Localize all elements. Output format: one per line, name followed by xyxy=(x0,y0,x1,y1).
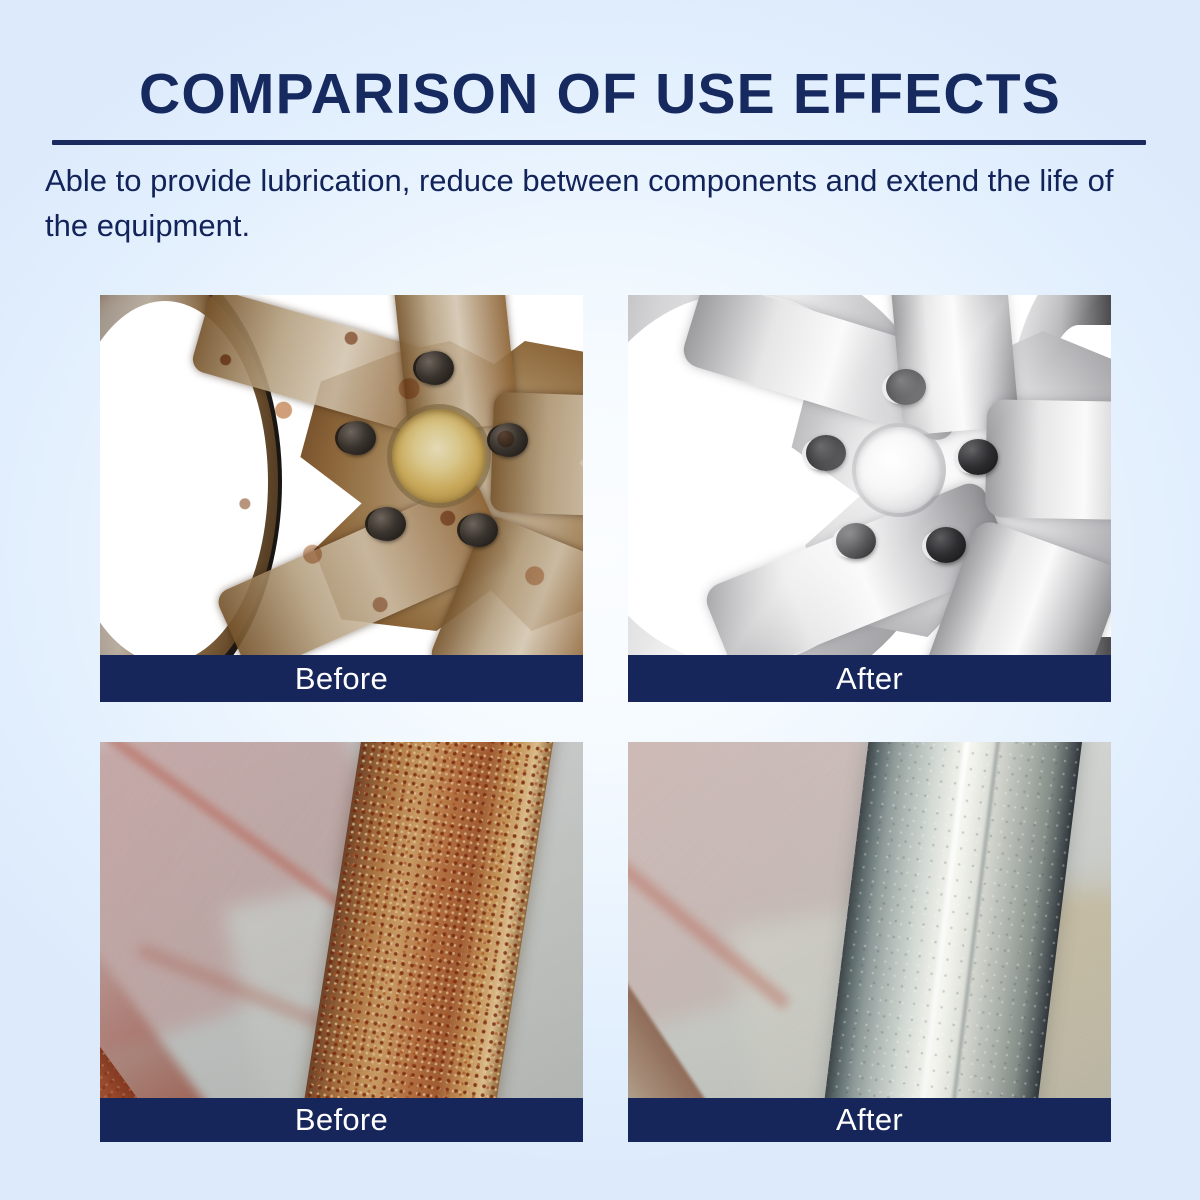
lug-nut xyxy=(460,513,498,547)
caption-pipe-after: After xyxy=(628,1098,1111,1142)
rusty-pipe-photo xyxy=(100,742,583,1098)
caption-wheel-after: After xyxy=(628,655,1111,702)
header: COMPARISON OF USE EFFECTS xyxy=(0,0,1200,126)
comparison-wheel-after-image xyxy=(628,295,1111,655)
lug-nut xyxy=(416,351,454,385)
lug-nut xyxy=(806,435,846,471)
clean-wheel-photo xyxy=(628,295,1111,655)
lug-nut xyxy=(338,421,376,455)
lug-nut xyxy=(490,423,528,457)
lug-nut xyxy=(368,507,406,541)
comparison-infographic: COMPARISON OF USE EFFECTS Able to provid… xyxy=(0,0,1200,1200)
rusty-wheel-photo xyxy=(100,295,583,655)
clean-pipe-photo xyxy=(628,742,1111,1098)
spoke-shape xyxy=(985,399,1111,520)
lug-nut xyxy=(836,523,876,559)
title-divider xyxy=(52,140,1146,145)
comparison-pipe-before-image xyxy=(100,742,583,1098)
lug-nut xyxy=(958,439,998,475)
wheel-center-cap xyxy=(392,409,486,503)
comparison-pipe-after-image xyxy=(628,742,1111,1098)
caption-wheel-before: Before xyxy=(100,655,583,702)
page-subtitle: Able to provide lubrication, reduce betw… xyxy=(45,158,1155,248)
caption-pipe-before: Before xyxy=(100,1098,583,1142)
lug-nut xyxy=(886,369,926,405)
comparison-wheel-before-image xyxy=(100,295,583,655)
page-title: COMPARISON OF USE EFFECTS xyxy=(0,0,1200,126)
lug-nut xyxy=(926,527,966,563)
wheel-center-cap xyxy=(856,427,942,513)
